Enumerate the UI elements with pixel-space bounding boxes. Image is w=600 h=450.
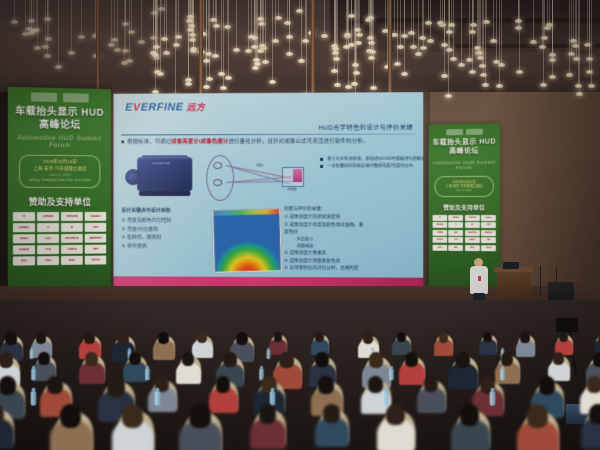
right-bullet-item: 一次拍摄同时获取区域内整屏亮度/色度的分布 <box>320 162 417 169</box>
instrument-lens <box>125 169 141 185</box>
pendant-bulb <box>108 43 115 47</box>
attendee-head <box>122 404 143 428</box>
attendee-head <box>107 376 125 397</box>
support-pole <box>311 0 315 96</box>
pendant-rod <box>370 0 371 36</box>
pendant-rod <box>335 0 336 51</box>
pendant-rod <box>576 0 577 57</box>
pendant-bulb <box>185 82 192 86</box>
pendant-bulb <box>353 71 360 75</box>
pendant-bulb <box>516 70 523 74</box>
pendant-bulb <box>530 40 537 44</box>
org-logo-icon <box>31 92 57 102</box>
pendant-rod <box>141 0 142 40</box>
slide-heading: HUD光学特性的设计与评价关键 <box>318 122 413 131</box>
optic-target-label: 成像面 <box>274 187 310 191</box>
pendant-rod <box>228 0 229 76</box>
attendee-head <box>315 352 329 367</box>
attendee-head <box>363 332 373 344</box>
pendant-bulb <box>262 60 269 64</box>
water-bottle <box>32 369 37 381</box>
bullet-highlight: 成像亮度计/成像色度计 <box>171 139 228 145</box>
attendee-head <box>47 376 63 394</box>
measure-subitem-text: 测量精准 <box>294 243 313 248</box>
banner-title-line2: 高峰论坛 <box>429 147 500 157</box>
pendant-rod <box>337 0 338 83</box>
pendant-rod <box>451 0 452 23</box>
pendant-rod <box>81 0 82 35</box>
pendant-bulb <box>272 39 279 43</box>
pendant-bulb <box>114 48 121 52</box>
pendant-rod <box>486 0 487 20</box>
sponsor-logo: IT <box>433 215 448 221</box>
pendant-rod <box>358 0 359 41</box>
pendant-rod <box>469 0 470 58</box>
pendant-rod <box>423 0 424 46</box>
pendant-rod <box>587 0 588 43</box>
pendant-rod <box>251 0 252 35</box>
pendant-rod <box>591 0 592 84</box>
pendant-rod <box>411 0 412 31</box>
pendant-rod <box>449 0 450 48</box>
pendant-rod <box>216 0 217 24</box>
banner-datebox: 2019年11月13日 上海·安亭·汽车城瑞立酒店 Nov 13, 2019 <box>434 175 493 197</box>
banner-right: 车载抬头显示 HUD 高峰论坛 Automotive HUD Summit Fo… <box>429 123 500 300</box>
pendant-rod <box>289 0 290 52</box>
attendee-head <box>318 376 334 394</box>
support-pole <box>199 0 203 96</box>
pendant-rod <box>324 0 325 34</box>
attendee-head <box>197 332 207 343</box>
pendant-rod <box>356 0 357 71</box>
pendant-rod <box>351 0 352 43</box>
pendant-rod <box>287 0 288 21</box>
pendant-rod <box>31 0 32 31</box>
pendant-bulb <box>213 24 220 28</box>
pendant-rod <box>428 0 429 21</box>
attendee-head <box>189 404 211 428</box>
pendant-bulb <box>34 46 41 50</box>
pendant-rod <box>301 0 302 59</box>
pendant-bulb <box>151 11 158 15</box>
pendant-rod <box>265 0 266 60</box>
sponsor-logo: MORITEX <box>85 233 107 242</box>
attendee-head <box>223 352 237 367</box>
water-bottle <box>490 391 496 405</box>
banner-title: 车载抬头显示 HUD 高峰论坛 <box>8 106 111 133</box>
pendant-rod <box>166 0 167 51</box>
pendant-rod <box>161 0 162 7</box>
pendant-rod <box>306 0 307 94</box>
org-logo-icon <box>63 93 89 103</box>
pendant-rod <box>213 0 214 18</box>
pendant-bulb <box>269 80 276 84</box>
pendant-rod <box>573 0 574 39</box>
pendant-rod <box>255 0 256 66</box>
attendee-head <box>424 376 439 392</box>
bullet-post: 进行量化分析，且针对成像公式可灵活进行软件的分析。 <box>228 139 368 145</box>
everfine-logo: EVERFINE远方 <box>125 100 205 113</box>
pendant-bulb <box>44 54 51 58</box>
pendant-bulb <box>566 73 573 77</box>
design-heading: 设计关键点与设计目标 <box>121 207 216 216</box>
water-bottle <box>31 391 37 405</box>
attendee-head <box>5 332 16 345</box>
attendee-head <box>589 404 600 424</box>
attendee-head <box>0 352 13 368</box>
pendant-bulb <box>163 51 170 55</box>
pendant-bulb <box>344 33 351 37</box>
pendant-rod <box>385 0 386 29</box>
pendant-bulb <box>370 86 377 90</box>
pendant-rod <box>533 0 534 40</box>
luminance-heatmap <box>211 208 282 274</box>
pendant-rod <box>552 0 553 75</box>
pendant-bulb <box>575 84 582 88</box>
sponsor-logo: TESTA <box>13 234 35 243</box>
banner-title-en: Automotive HUD Summit Forum <box>8 134 111 149</box>
sponsor-logo: HIGHTECH <box>465 230 480 236</box>
sponsor-logo: CRX <box>481 223 496 229</box>
banner-org-logos <box>8 87 111 103</box>
design-item: ③ 能耗低，散热好 <box>121 234 216 243</box>
pendant-rod <box>164 0 165 37</box>
slide-main-bullet: 根据标准，可通过成像亮度计/成像色度计进行量化分析，且针对成像公式可灵活进行软件… <box>121 139 417 147</box>
sponsor-logo: LUMUS <box>465 237 480 243</box>
sponsor-logo: B <box>61 222 83 231</box>
pendant-bulb <box>469 70 476 74</box>
banner-datebox: 2019年11月13日 上海·安亭·汽车城瑞立酒店 Nov 13, 2019 A… <box>19 155 100 188</box>
sponsor-logo-grid: ITEPSONTOPCONRadiantKONICAVBCRXTESTAAACH… <box>8 208 111 266</box>
measure-item: ① 成像亮度计的测试速度快 <box>284 213 415 221</box>
pendant-rod <box>208 0 209 52</box>
attendee-head <box>259 404 277 424</box>
pendant-bulb <box>401 72 408 76</box>
banner-sponsor-heading: 赞助及支持单位 <box>429 203 500 212</box>
pendant-bulb <box>298 59 305 63</box>
pendant-rod <box>418 0 419 52</box>
banner-title: 车载抬头显示 HUD 高峰论坛 <box>429 138 500 157</box>
pendant-bulb <box>477 56 484 60</box>
attendee-head <box>36 332 46 344</box>
pendant-bulb <box>540 83 547 87</box>
slide-design-list: 设计关键点与设计目标 ① 亮度及颜色均匀性好 ② 亮度/对比度高 ③ 能耗低，散… <box>121 207 216 252</box>
everfine-logo-cn: 远方 <box>186 102 205 112</box>
sponsor-logo: BOE <box>465 245 480 251</box>
speaker-badge <box>478 276 481 281</box>
sponsor-logo: SAIC <box>37 256 59 265</box>
attendee-head <box>158 332 169 344</box>
sponsor-logo: HIGHTECH <box>61 233 83 242</box>
sponsor-logo: EPSON <box>37 212 59 221</box>
pendant-bulb <box>68 51 75 55</box>
sponsor-logo: NGC <box>433 245 448 251</box>
pendant-bulb <box>251 36 258 40</box>
video-camera <box>556 318 578 332</box>
sponsor-logo: Radiant <box>85 211 107 220</box>
pendant-bulb <box>225 76 232 80</box>
pendant-bulb <box>549 58 556 62</box>
projection-screen: EVERFINE远方 HUD光学特性的设计与评价关键 根据标准，可通过成像亮度计… <box>113 92 423 292</box>
pendant-rod <box>129 0 130 59</box>
pendant-rod <box>154 0 155 11</box>
pendant-bulb <box>469 30 476 34</box>
slide-measure-list: 测量与评价的关键： ① 成像亮度计的测试速度快 ② 成像亮度计亮度及颜色测试准确… <box>284 205 415 272</box>
sponsor-logo: SUNCN <box>433 237 448 243</box>
pendant-rod <box>37 0 38 46</box>
pendant-rod <box>404 0 405 72</box>
pendant-rod <box>501 0 502 63</box>
pendant-bulb <box>212 54 219 58</box>
banner-title-en: Automotive HUD Summit Forum <box>429 159 500 170</box>
water-bottle <box>500 369 505 381</box>
pendant-bulb <box>111 38 118 42</box>
slide-title-rule <box>121 134 415 136</box>
pendant-bulb <box>568 52 575 56</box>
pendant-bulb <box>419 36 426 40</box>
banner-place-en: Anting, Shanghai, Auto City, Ruili Hotel <box>24 178 95 184</box>
optical-diagram: 光路 L 成像面 <box>204 151 312 203</box>
attendee-head <box>368 376 383 393</box>
pendant-bulb <box>576 92 583 96</box>
sponsor-logo: TOPCON <box>61 212 83 221</box>
sponsor-logo: OFILM <box>481 245 496 251</box>
attendee-head <box>117 332 129 345</box>
sponsor-logo: KONICA <box>13 223 35 232</box>
pendant-rod <box>221 0 222 72</box>
pendant-bulb <box>450 57 457 61</box>
pendant-rod <box>571 0 572 52</box>
heatmap-field <box>214 214 281 271</box>
mic-stand <box>540 266 541 296</box>
pendant-rod <box>578 0 579 84</box>
pendant-bulb <box>33 28 40 32</box>
pendant-rod <box>493 0 494 39</box>
pendant-bulb <box>321 34 328 38</box>
pendant-rod <box>209 0 210 77</box>
slide-content: EVERFINE远方 HUD光学特性的设计与评价关键 根据标准，可通过成像亮度计… <box>113 92 423 292</box>
sponsor-logo: CYG <box>37 245 59 254</box>
pendant-bulb <box>586 57 593 61</box>
design-item: ② 亮度/对比度高 <box>121 225 216 234</box>
pendant-bulb <box>334 83 341 87</box>
pendant-bulb <box>441 74 448 78</box>
sponsor-logo: Radiant <box>481 215 496 221</box>
pendant-rod <box>453 0 454 57</box>
bullet-dot-icon <box>121 140 124 143</box>
pendant-rod <box>47 0 48 17</box>
pendant-bulb <box>205 52 212 56</box>
attendee-head <box>85 352 98 366</box>
sponsor-logo: MORITEX <box>481 230 496 236</box>
attendee-head <box>182 352 195 366</box>
pendant-bulb <box>410 45 417 49</box>
sponsor-logo: SAIC <box>449 245 464 251</box>
water-bottle <box>154 391 160 405</box>
pendant-rod <box>372 0 373 50</box>
attendee-head <box>315 332 324 342</box>
measure-subitem-text: 失匹配小 <box>294 236 313 241</box>
pendant-rod <box>131 0 132 30</box>
pendant-rod <box>348 0 349 85</box>
pendant-rod <box>496 0 497 60</box>
sponsor-logo: TOPCON <box>465 215 480 221</box>
hud-image-area <box>293 169 302 182</box>
pendant-rod <box>36 0 37 28</box>
attendee-head <box>38 352 50 365</box>
banner-sponsor-heading: 赞助及支持单位 <box>8 194 111 207</box>
pendant-bulb <box>173 43 180 47</box>
sponsor-logo: AAC <box>449 230 464 236</box>
pendant-rod <box>413 0 414 45</box>
water-bottle <box>267 350 271 359</box>
pendant-rod <box>223 0 224 86</box>
pendant-rod <box>400 0 401 45</box>
banner-title-line2: 高峰论坛 <box>8 119 111 133</box>
sponsor-logo: KONICA <box>433 222 448 228</box>
attendee-head <box>559 332 568 342</box>
pendant-rod <box>262 0 263 44</box>
pendant-bulb <box>549 75 556 79</box>
banner-place-cn: 上海·安亭·汽车城瑞立酒店 <box>24 166 95 173</box>
attendee-head <box>84 332 95 344</box>
attendee-head <box>405 352 418 367</box>
attendee-head <box>0 376 16 395</box>
instrument-photo: EVERFINE <box>123 153 200 201</box>
pendant-bulb <box>588 84 595 88</box>
pendant-rod <box>124 0 125 61</box>
attendee-head <box>527 404 548 428</box>
banner-org-logos <box>429 123 500 135</box>
pendant-bulb <box>483 20 490 24</box>
support-pole <box>96 0 100 92</box>
pendant-rod <box>254 0 255 36</box>
org-logo-icon <box>446 129 463 135</box>
attendee-head <box>587 376 600 393</box>
attendee-head <box>593 352 600 367</box>
sponsor-logo: V <box>449 222 464 228</box>
attendee-head <box>386 404 405 425</box>
slide-right-bullets: 基于光学系统原理，采用进口CCD传感器进行图像采集 一次拍摄同时获取区域内整屏亮… <box>320 155 417 170</box>
water-bottle <box>270 391 276 405</box>
attendee-head <box>236 332 248 345</box>
eye-left-icon <box>213 162 222 169</box>
banner-date-en: Nov 13, 2019 <box>439 189 489 193</box>
attendee-head <box>460 404 479 426</box>
pendant-rod <box>193 0 194 49</box>
measure-heading: 测量与评价的关键： <box>284 205 415 213</box>
sponsor-logo: V <box>37 223 59 232</box>
pendant-rod <box>178 0 179 35</box>
sponsor-logo: TESTA <box>433 230 448 236</box>
water-bottle <box>382 391 388 405</box>
pendant-rod <box>430 0 431 39</box>
eye-right-icon <box>213 179 222 186</box>
pendant-rod <box>397 0 398 62</box>
water-bottle <box>30 350 34 359</box>
pendant-bulb <box>185 78 192 82</box>
instrument-foot <box>139 191 190 196</box>
sponsor-logo: IT <box>13 212 35 221</box>
attendee-head <box>369 352 383 368</box>
pendant-rod <box>125 0 126 22</box>
pendant-bulb <box>220 86 227 90</box>
pendant-rod <box>461 0 462 63</box>
design-item: ① 亮度及颜色均匀性好 <box>121 217 216 226</box>
sponsor-logo: LUMUS <box>61 244 83 253</box>
attendee-head <box>397 332 406 342</box>
sponsor-logo: B <box>465 222 480 228</box>
pendant-rod <box>518 0 519 26</box>
pendant-rod <box>156 0 157 56</box>
sponsor-logo: OFILM <box>85 255 107 264</box>
design-item: ④ 零件度高 <box>121 243 216 252</box>
sponsor-logo: TMT <box>85 244 107 253</box>
pendant-rod <box>579 0 580 92</box>
sponsor-logo: EPSON <box>449 215 464 221</box>
banner-title-line1: 车载抬头显示 HUD <box>8 106 111 120</box>
attendee-head <box>279 352 294 368</box>
pendant-bulb <box>286 52 293 56</box>
pendant-rod <box>549 0 550 23</box>
pendant-rod <box>589 0 590 57</box>
pendant-bulb <box>496 84 503 88</box>
measure-item: ⑤ 支持客制化的对比分析，合格判定 <box>284 264 415 272</box>
banner-title-line1: 车载抬头显示 HUD <box>429 138 500 148</box>
sponsor-logo: NGC <box>13 256 35 265</box>
pendant-rod <box>248 0 249 49</box>
attendee-head <box>274 332 283 342</box>
laptop-on-podium <box>503 262 520 269</box>
attendee-head <box>483 332 492 342</box>
pendant-rod <box>473 0 474 23</box>
sponsor-logo: BOE <box>61 255 83 264</box>
instrument-label: EVERFINE <box>153 161 170 165</box>
measure-item: ② 成像亮度计亮度及颜色测试准确，重 <box>284 221 415 229</box>
sponsor-logo: AAC <box>37 234 59 243</box>
sponsor-logo: SUNCN <box>13 245 35 254</box>
attendee-head <box>455 352 470 368</box>
bullet-pre: 根据标准，可通过 <box>127 139 171 145</box>
attendee-head <box>60 404 82 428</box>
sponsor-logo-grid: ITEPSONTOPCONRadiantKONICAVBCRXTESTAAACH… <box>429 212 500 251</box>
pendant-rod <box>394 0 395 33</box>
pendant-rod <box>111 0 112 43</box>
pendant-bulb <box>446 48 453 52</box>
pendant-bulb <box>415 52 422 56</box>
attendee-head <box>216 376 231 393</box>
pendant-rod <box>236 0 237 48</box>
conference-photo: EVERFINE远方 HUD光学特性的设计与评价关键 根据标准，可通过成像亮度计… <box>0 0 600 450</box>
pendant-bulb <box>11 20 18 24</box>
pendant-rod <box>440 0 441 21</box>
pendant-bulb <box>482 83 489 87</box>
pendant-rod <box>299 0 300 9</box>
pendant-rod <box>472 0 473 30</box>
attendee-head <box>520 332 530 343</box>
org-logo-icon <box>465 129 482 135</box>
pendant-rod <box>544 0 545 36</box>
pendant-rod <box>33 0 34 29</box>
pendant-rod <box>25 0 26 32</box>
pendant-rod <box>257 0 258 62</box>
pendant-rod <box>278 0 279 16</box>
pendant-rod <box>14 0 15 20</box>
attendee-head <box>323 404 340 423</box>
attendee-head <box>539 376 556 395</box>
sponsor-logo: CRX <box>85 222 107 231</box>
water-bottle <box>145 369 150 381</box>
